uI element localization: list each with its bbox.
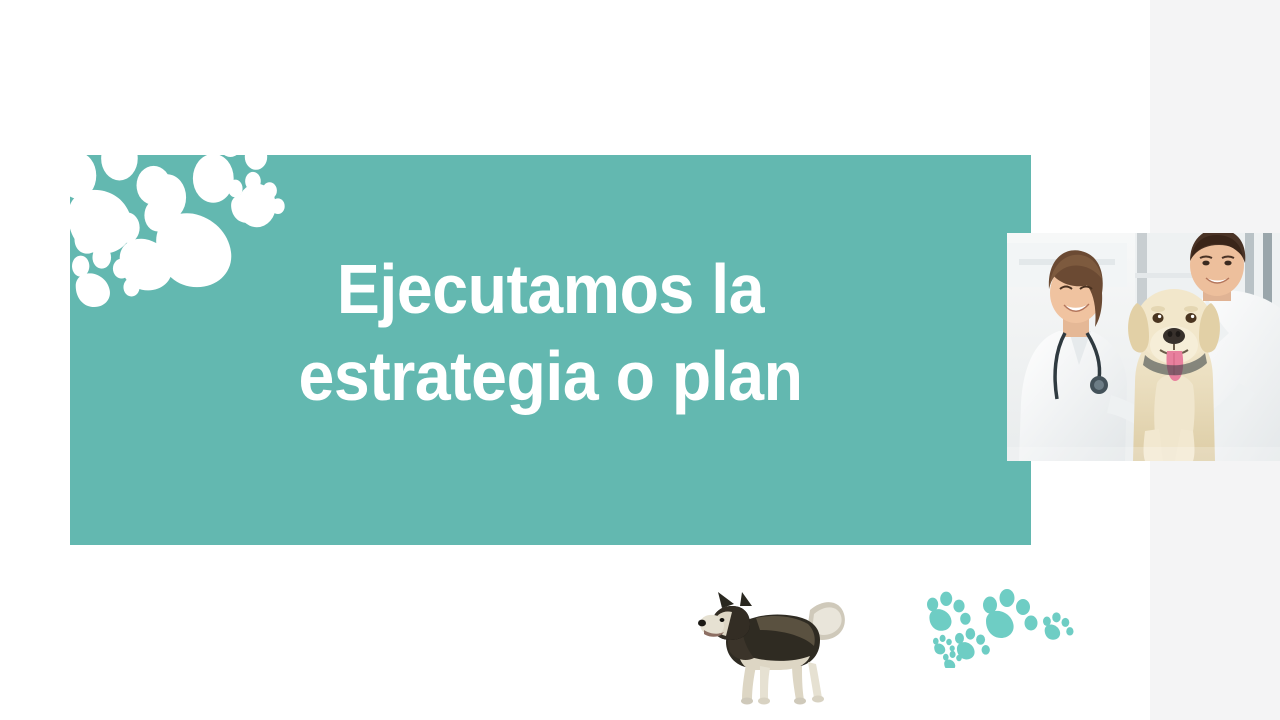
- labrador-dog: [1128, 289, 1220, 461]
- husky-dog-illustration: [694, 578, 854, 706]
- teal-paw-decoration-group: [925, 588, 1085, 668]
- slide-canvas: Ejecutamos la estrategia o plan: [0, 0, 1280, 720]
- paw-icon: [983, 589, 1038, 638]
- slide-title-container: Ejecutamos la estrategia o plan: [70, 155, 1031, 545]
- paw-icon: [927, 592, 971, 631]
- husky-icon: [698, 592, 845, 705]
- vet-team-photo: [1007, 233, 1280, 461]
- paw-icon: [955, 628, 990, 659]
- paw-icon: [1043, 612, 1074, 639]
- page-title: Ejecutamos la estrategia o plan: [180, 246, 921, 421]
- title-band: Ejecutamos la estrategia o plan: [70, 155, 1031, 545]
